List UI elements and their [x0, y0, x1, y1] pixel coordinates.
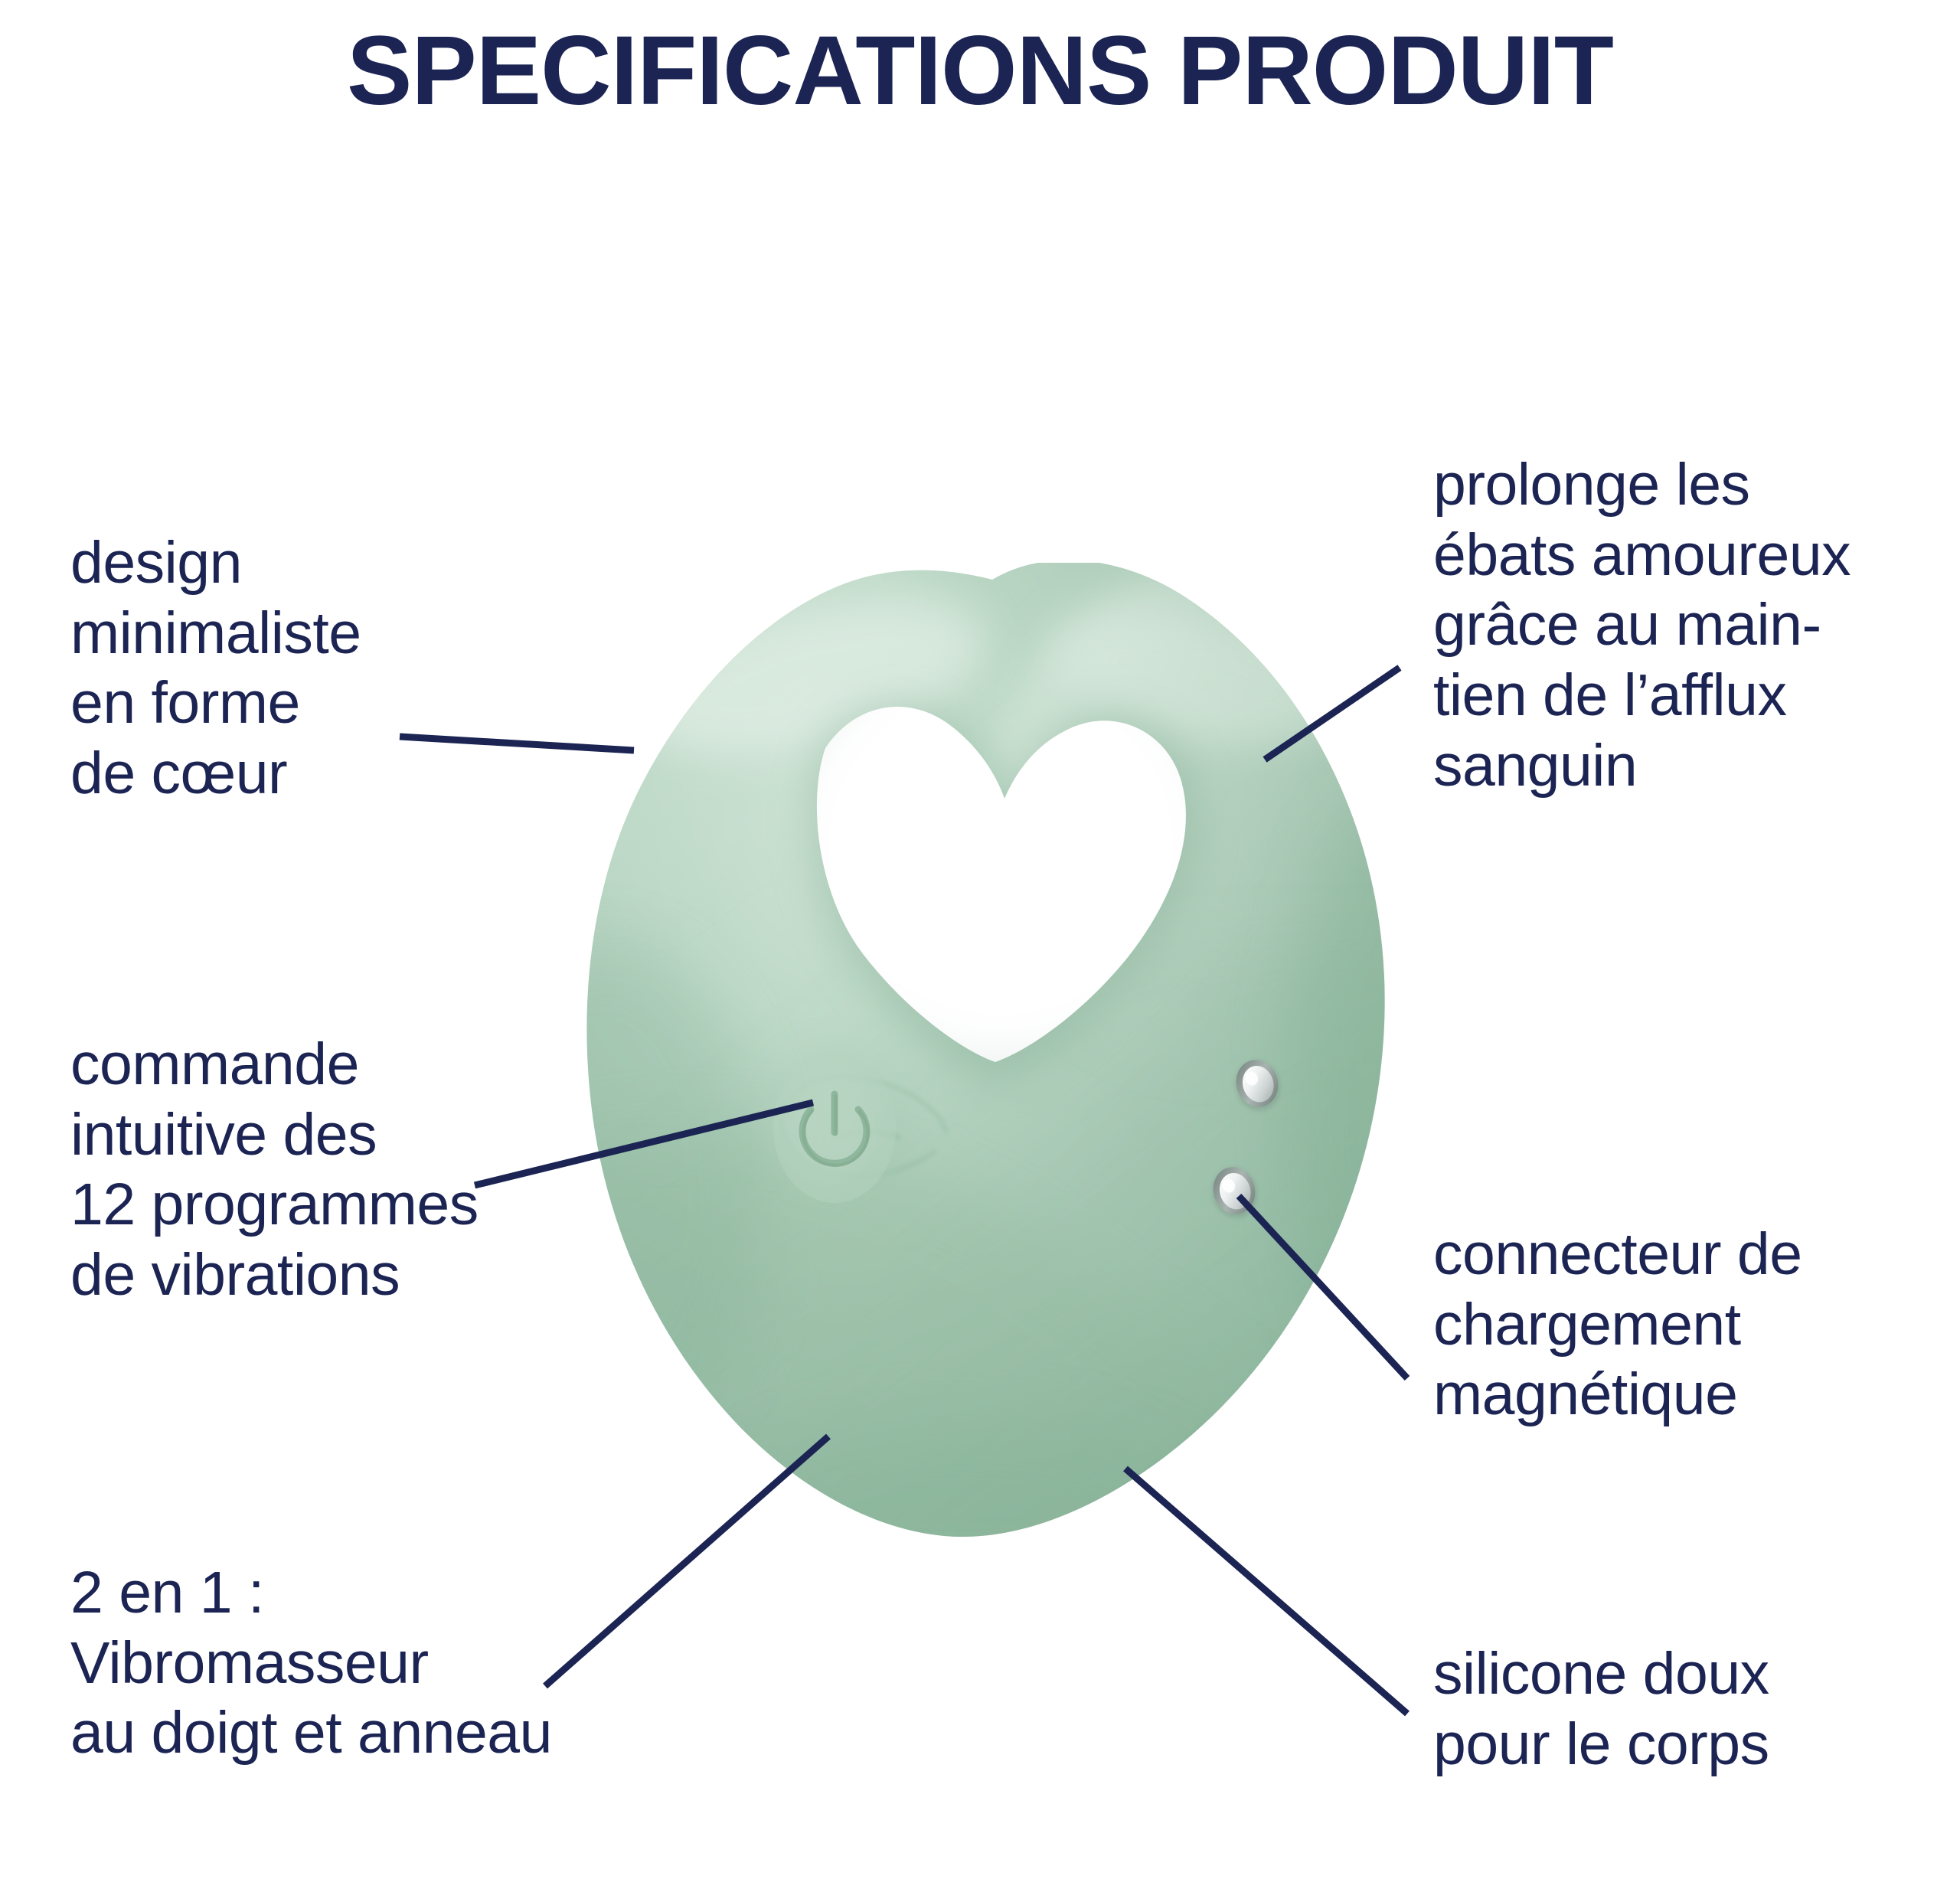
callout-line: ébats amoureux — [1433, 521, 1851, 591]
callout-line: silicone doux — [1433, 1639, 1769, 1710]
callout-line: grâce au main- — [1433, 590, 1851, 661]
callout-line: intuitive des — [70, 1100, 479, 1171]
callout-line: prolonge les — [1433, 450, 1851, 521]
callout-line: minimaliste — [70, 599, 361, 669]
callout-line: connecteur de — [1433, 1220, 1802, 1290]
callout-line: de vibrations — [70, 1240, 479, 1311]
specification-sheet: SPECIFICATIONS PRODUIT design minimalist… — [0, 0, 1960, 1879]
page-title: SPECIFICATIONS PRODUIT — [0, 21, 1960, 122]
callout-design-minimaliste: design minimaliste en forme de cœur — [70, 528, 361, 809]
callout-line: tien de l’afflux — [1433, 661, 1851, 731]
product-image-heart-ring — [582, 563, 1401, 1573]
power-button[interactable] — [769, 1051, 900, 1211]
callout-line: 2 en 1 : — [70, 1558, 552, 1629]
callout-silicone-doux: silicone doux pour le corps — [1433, 1639, 1769, 1779]
callout-line: Vibromasseur — [70, 1629, 552, 1699]
callout-prolonge-ebats: prolonge les ébats amoureux grâce au mai… — [1433, 450, 1851, 801]
callout-commande-intuitive: commande intuitive des 12 programmes de … — [70, 1030, 479, 1311]
callout-connecteur-chargement: connecteur de chargement magnétique — [1433, 1220, 1802, 1430]
callout-line: 12 programmes — [70, 1170, 479, 1240]
callout-line: commande — [70, 1030, 479, 1100]
callout-line: magnétique — [1433, 1360, 1802, 1430]
callout-2-en-1: 2 en 1 : Vibromasseur au doigt et anneau — [70, 1558, 552, 1769]
callout-line: chargement — [1433, 1290, 1802, 1361]
callout-line: au doigt et anneau — [70, 1698, 552, 1769]
callout-line: pour le corps — [1433, 1710, 1769, 1780]
callout-line: design — [70, 528, 361, 599]
callout-line: en forme — [70, 668, 361, 739]
callout-line: de cœur — [70, 739, 361, 809]
callout-line: sanguin — [1433, 731, 1851, 802]
